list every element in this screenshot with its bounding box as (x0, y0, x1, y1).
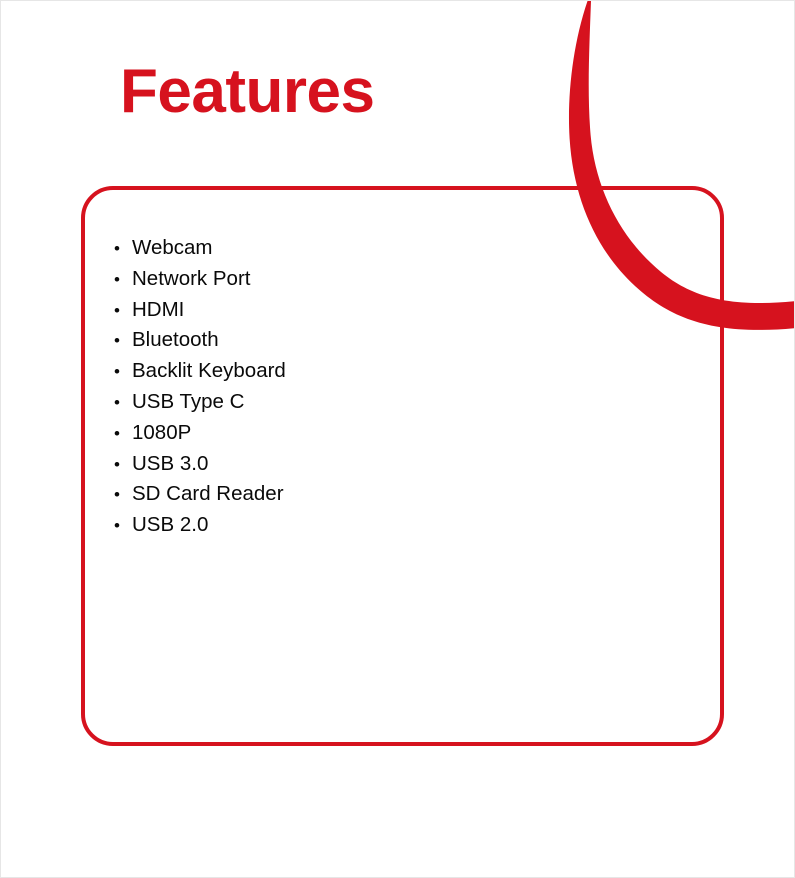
list-item: • SD Card Reader (114, 479, 286, 510)
list-item: • Webcam (114, 233, 286, 264)
list-item: • Bluetooth (114, 325, 286, 356)
list-item: • USB 3.0 (114, 449, 286, 480)
list-item: • HDMI (114, 295, 286, 326)
bullet-icon: • (114, 480, 132, 511)
bullet-icon: • (114, 357, 132, 388)
list-item: • USB Type C (114, 387, 286, 418)
bullet-icon: • (114, 388, 132, 419)
bullet-icon: • (114, 234, 132, 265)
bullet-icon: • (114, 326, 132, 357)
list-item: • Backlit Keyboard (114, 356, 286, 387)
list-item: • Network Port (114, 264, 286, 295)
slide-canvas: Features • Webcam • Network Port • HDMI … (0, 0, 795, 878)
list-item: • USB 2.0 (114, 510, 286, 541)
list-item-label: HDMI (132, 295, 184, 326)
bullet-icon: • (114, 265, 132, 296)
list-item-label: Bluetooth (132, 325, 219, 356)
list-item-label: Network Port (132, 264, 250, 295)
bullet-icon: • (114, 296, 132, 327)
list-item-label: USB Type C (132, 387, 244, 418)
list-item-label: USB 2.0 (132, 510, 208, 541)
list-item-label: Backlit Keyboard (132, 356, 286, 387)
page-title: Features (120, 59, 374, 126)
list-item-label: USB 3.0 (132, 449, 208, 480)
list-item-label: Webcam (132, 233, 213, 264)
bullet-icon: • (114, 450, 132, 481)
bullet-icon: • (114, 511, 132, 542)
feature-list: • Webcam • Network Port • HDMI • Bluetoo… (114, 233, 286, 541)
list-item-label: 1080P (132, 418, 191, 449)
list-item-label: SD Card Reader (132, 479, 284, 510)
bullet-icon: • (114, 419, 132, 450)
list-item: • 1080P (114, 418, 286, 449)
